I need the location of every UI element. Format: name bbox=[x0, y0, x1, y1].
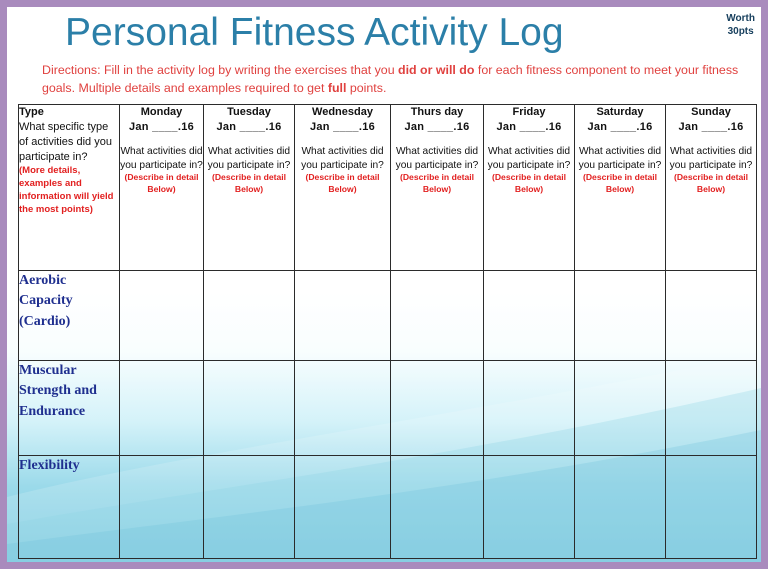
day-question-wednesday: What activities did you participate in? bbox=[295, 145, 390, 173]
table-row-flexibility: Flexibility bbox=[19, 456, 757, 559]
entry-aerobic-friday[interactable] bbox=[484, 271, 575, 361]
day-note-friday: (Describe in detail Below) bbox=[484, 172, 574, 194]
day-note-saturday: (Describe in detail Below) bbox=[575, 172, 665, 194]
day-note-tuesday: (Describe in detail Below) bbox=[204, 172, 294, 194]
entry-flexibility-tuesday[interactable] bbox=[204, 456, 295, 559]
day-name-monday: Monday bbox=[120, 105, 203, 120]
entry-muscular-thursday[interactable] bbox=[391, 361, 484, 456]
directions-part3: points. bbox=[346, 81, 386, 95]
header-cell-friday: Friday Jan ____.16 What activities did y… bbox=[484, 105, 575, 271]
entry-flexibility-saturday[interactable] bbox=[575, 456, 666, 559]
type-column-title: Type bbox=[19, 105, 119, 120]
header-cell-monday: Monday Jan ____.16 What activities did y… bbox=[120, 105, 204, 271]
activity-log-table: Type What specific type of activities di… bbox=[18, 104, 757, 559]
header-cell-saturday: Saturday Jan ____.16 What activities did… bbox=[575, 105, 666, 271]
table-header-row: Type What specific type of activities di… bbox=[19, 105, 757, 271]
day-date-thursday: Jan ____.16 bbox=[391, 120, 483, 135]
day-note-thursday: (Describe in detail Below) bbox=[391, 172, 483, 194]
entry-aerobic-saturday[interactable] bbox=[575, 271, 666, 361]
directions-text: Directions: Fill in the activity log by … bbox=[7, 56, 761, 104]
day-question-saturday: What activities did you participate in? bbox=[575, 145, 665, 173]
table-row-muscular-strength: Muscular Strength and Endurance bbox=[19, 361, 757, 456]
directions-bold2: full bbox=[328, 81, 347, 95]
entry-aerobic-sunday[interactable] bbox=[666, 271, 757, 361]
page-header: Worth 30pts Personal Fitness Activity Lo… bbox=[7, 7, 761, 104]
entry-muscular-saturday[interactable] bbox=[575, 361, 666, 456]
day-question-monday: What activities did you participate in? bbox=[120, 145, 203, 173]
day-question-thursday: What activities did you participate in? bbox=[391, 145, 483, 173]
type-column-note: (More details, examples and information … bbox=[19, 165, 119, 216]
row-label-aerobic-capacity: Aerobic Capacity (Cardio) bbox=[19, 271, 120, 361]
entry-aerobic-wednesday[interactable] bbox=[295, 271, 391, 361]
entry-muscular-monday[interactable] bbox=[120, 361, 204, 456]
day-question-friday: What activities did you participate in? bbox=[484, 145, 574, 173]
day-question-sunday: What activities did you participate in? bbox=[666, 145, 756, 173]
type-column-question: What specific type of activities did you… bbox=[19, 120, 119, 165]
page-title: Personal Fitness Activity Log bbox=[7, 11, 761, 56]
table-row-aerobic-capacity: Aerobic Capacity (Cardio) bbox=[19, 271, 757, 361]
worksheet-page: Worth 30pts Personal Fitness Activity Lo… bbox=[0, 0, 768, 569]
entry-flexibility-thursday[interactable] bbox=[391, 456, 484, 559]
header-cell-sunday: Sunday Jan ____.16 What activities did y… bbox=[666, 105, 757, 271]
day-name-tuesday: Tuesday bbox=[204, 105, 294, 120]
day-date-sunday: Jan ____.16 bbox=[666, 120, 756, 135]
worth-badge: Worth 30pts bbox=[726, 13, 755, 38]
day-date-friday: Jan ____.16 bbox=[484, 120, 574, 135]
entry-flexibility-wednesday[interactable] bbox=[295, 456, 391, 559]
entry-flexibility-monday[interactable] bbox=[120, 456, 204, 559]
day-note-monday: (Describe in detail Below) bbox=[120, 172, 203, 194]
day-name-wednesday: Wednesday bbox=[295, 105, 390, 120]
day-date-wednesday: Jan ____.16 bbox=[295, 120, 390, 135]
directions-bold1: did or will do bbox=[398, 63, 474, 77]
entry-muscular-sunday[interactable] bbox=[666, 361, 757, 456]
day-name-friday: Friday bbox=[484, 105, 574, 120]
day-name-saturday: Saturday bbox=[575, 105, 665, 120]
entry-muscular-tuesday[interactable] bbox=[204, 361, 295, 456]
worth-badge-line2: 30pts bbox=[726, 26, 755, 39]
day-name-thursday: Thurs day bbox=[391, 105, 483, 120]
entry-aerobic-thursday[interactable] bbox=[391, 271, 484, 361]
entry-muscular-wednesday[interactable] bbox=[295, 361, 391, 456]
day-date-tuesday: Jan ____.16 bbox=[204, 120, 294, 135]
entry-flexibility-friday[interactable] bbox=[484, 456, 575, 559]
day-date-saturday: Jan ____.16 bbox=[575, 120, 665, 135]
header-cell-wednesday: Wednesday Jan ____.16 What activities di… bbox=[295, 105, 391, 271]
header-cell-thursday: Thurs day Jan ____.16 What activities di… bbox=[391, 105, 484, 271]
entry-aerobic-tuesday[interactable] bbox=[204, 271, 295, 361]
header-cell-tuesday: Tuesday Jan ____.16 What activities did … bbox=[204, 105, 295, 271]
entry-muscular-friday[interactable] bbox=[484, 361, 575, 456]
row-label-muscular-strength: Muscular Strength and Endurance bbox=[19, 361, 120, 456]
day-name-sunday: Sunday bbox=[666, 105, 756, 120]
day-note-sunday: (Describe in detail Below) bbox=[666, 172, 756, 194]
entry-flexibility-sunday[interactable] bbox=[666, 456, 757, 559]
header-cell-type: Type What specific type of activities di… bbox=[19, 105, 120, 271]
day-date-monday: Jan ____.16 bbox=[120, 120, 203, 135]
day-question-tuesday: What activities did you participate in? bbox=[204, 145, 294, 173]
worth-badge-line1: Worth bbox=[726, 13, 755, 26]
row-label-flexibility: Flexibility bbox=[19, 456, 120, 559]
entry-aerobic-monday[interactable] bbox=[120, 271, 204, 361]
day-note-wednesday: (Describe in detail Below) bbox=[295, 172, 390, 194]
directions-part1: Directions: Fill in the activity log by … bbox=[42, 63, 398, 77]
